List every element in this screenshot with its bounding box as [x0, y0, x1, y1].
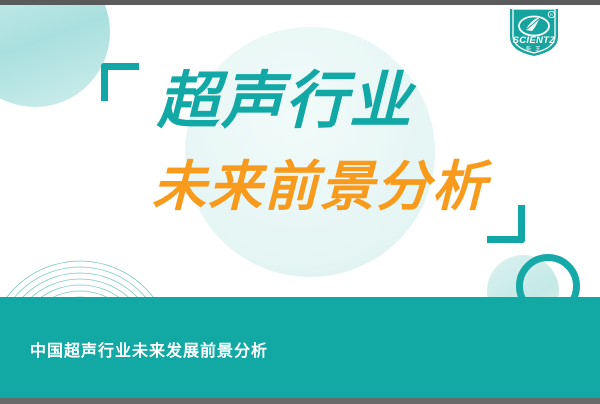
- page-title-line-2: 未来前景分析: [0, 155, 600, 219]
- footer-subtitle: 中国超声行业未来发展前景分析: [30, 341, 268, 363]
- scientz-logo: R SCIENTZ 新 芝: [506, 9, 562, 57]
- presentation-slide: 超声行业 未来前景分析 R SCIENTZ 新 芝 中国超声行业未来发展前景分析: [0, 0, 600, 404]
- footer-bar: 中国超声行业未来发展前景分析: [0, 297, 600, 398]
- svg-text:新 芝: 新 芝: [526, 46, 542, 53]
- svg-text:R: R: [550, 12, 553, 17]
- svg-text:SCIENTZ: SCIENTZ: [513, 35, 557, 46]
- page-title-line-1: 超声行业: [0, 65, 600, 139]
